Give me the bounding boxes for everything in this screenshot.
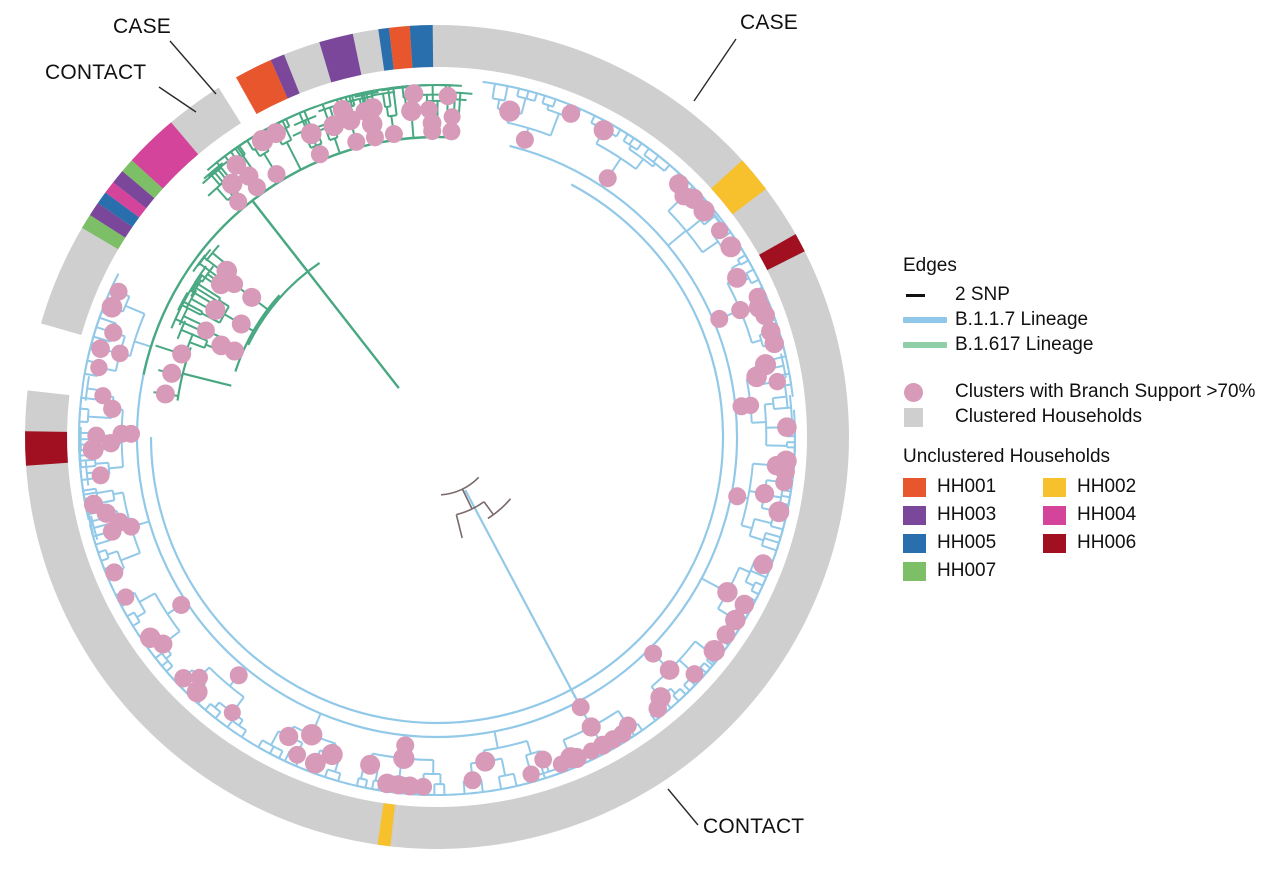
tree-branch — [771, 526, 783, 529]
tree-branch — [456, 515, 462, 538]
tree-branch — [80, 409, 88, 410]
tree-branch — [465, 490, 576, 698]
tree-branch — [134, 341, 145, 344]
cluster-support-dot — [363, 98, 383, 118]
annotation-leader-line — [159, 87, 196, 112]
tree-branch — [335, 138, 338, 147]
tree-branch — [629, 138, 633, 145]
cluster-support-dot — [268, 165, 286, 183]
cluster-support-dot — [242, 288, 261, 307]
cluster-support-dot — [769, 501, 790, 522]
figure-root: CASECONTACTCASECONTACT Edges 2 SNP B.1.1… — [0, 0, 1280, 872]
tree-branch — [741, 525, 752, 528]
cluster-support-dot — [728, 487, 746, 505]
tree-branch — [637, 143, 642, 150]
cluster-support-dot — [311, 145, 329, 163]
tree-branch — [328, 769, 341, 773]
tree-branch — [700, 663, 704, 668]
cluster-support-dot — [464, 771, 482, 789]
cluster-support-dot — [288, 746, 306, 764]
tree-branch — [270, 747, 274, 754]
tree-branch — [279, 751, 283, 758]
tree-branch — [644, 148, 649, 154]
cluster-support-dot — [727, 268, 747, 288]
cluster-support-dot — [216, 261, 237, 282]
clustered-household-swatch-icon — [903, 408, 955, 427]
cluster-support-dot — [516, 131, 534, 149]
tree-branch — [127, 612, 134, 616]
cluster-support-dot — [172, 596, 190, 614]
tree-branch — [551, 114, 559, 136]
tree-branch — [653, 163, 655, 166]
tree-branch — [484, 502, 493, 515]
tree-branch — [133, 622, 140, 626]
tree-branch — [383, 94, 385, 108]
cluster-support-dot — [769, 373, 786, 390]
cluster-support-dot — [717, 625, 736, 644]
cluster-support-dot — [117, 588, 134, 605]
household-legend-grid: HH001HH002HH003HH004HH005HH006HH007 — [903, 474, 1263, 584]
tree-branch — [403, 87, 404, 98]
tree-branch — [741, 260, 749, 264]
tree-branch — [215, 702, 219, 707]
tree-branch — [387, 107, 388, 116]
tree-branch — [527, 741, 531, 754]
tree-branch — [739, 568, 750, 573]
tree-branch — [781, 496, 789, 497]
legend-b1617-label: B.1.617 Lineage — [955, 334, 1093, 356]
tree-branch — [684, 685, 690, 691]
legend-household-hh005: HH005 — [903, 530, 1043, 556]
ring-clustered-arc — [253, 25, 849, 849]
legend-household-hh003: HH003 — [903, 502, 1043, 528]
snp-scalebar-icon — [903, 294, 955, 297]
cluster-support-dot — [775, 474, 793, 492]
tree-branch — [137, 612, 145, 617]
cluster-support-dot — [105, 563, 123, 581]
cluster-support-dot — [710, 310, 728, 328]
tree-branch — [166, 666, 172, 671]
household-label: HH002 — [1077, 476, 1136, 498]
tree-branch — [623, 134, 627, 141]
cluster-support-dot — [172, 345, 191, 364]
tree-branch — [496, 737, 498, 748]
legend-row-b117: B.1.1.7 Lineage — [903, 308, 1263, 332]
tree-branch — [505, 86, 508, 101]
household-swatch-icon — [903, 534, 926, 553]
tree-branch — [365, 780, 367, 788]
tree-branch — [95, 463, 108, 464]
tree-branch — [526, 91, 528, 99]
tree-branch — [275, 114, 297, 125]
legend-snp-label: 2 SNP — [955, 284, 1010, 306]
tree-branch — [535, 93, 537, 101]
tree-branch — [514, 774, 517, 786]
household-swatch-icon — [1043, 506, 1066, 525]
tree-branch — [286, 119, 289, 126]
tree-branch — [166, 654, 171, 658]
legend-household-hh007: HH007 — [903, 558, 1043, 584]
tree-branch — [664, 165, 669, 171]
legend-edges-title: Edges — [903, 255, 1263, 277]
household-label: HH006 — [1077, 532, 1136, 554]
tree-branch — [372, 780, 374, 789]
cluster-support-dot — [420, 101, 438, 119]
tree-branch — [704, 663, 710, 668]
tree-branch — [242, 730, 246, 737]
cluster-support-dot — [534, 751, 552, 769]
cluster-support-dot — [717, 582, 737, 602]
tree-branch — [636, 159, 643, 169]
cluster-support-dot — [562, 104, 580, 122]
cluster-support-dot — [140, 627, 161, 648]
cluster-support-dot — [230, 666, 248, 684]
legend: Edges 2 SNP B.1.1.7 Lineage B.1.617 Line… — [903, 255, 1263, 584]
tree-branch — [286, 128, 292, 140]
tree-branch — [109, 467, 123, 468]
tree-branch — [738, 255, 746, 260]
legend-b117-label: B.1.1.7 Lineage — [955, 309, 1088, 331]
legend-row-clusters: Clusters with Branch Support >70% — [903, 380, 1263, 404]
tree-branch — [345, 319, 399, 388]
tree-branch — [155, 653, 161, 658]
cluster-support-dot — [777, 417, 797, 437]
cluster-support-dot — [279, 727, 298, 746]
cluster-support-dot — [84, 495, 103, 514]
tree-branch — [113, 490, 115, 500]
tree-branch — [703, 242, 719, 253]
tree-branch — [495, 731, 496, 737]
household-swatch-icon — [903, 562, 926, 581]
tree-branch — [746, 269, 753, 273]
tree-branch — [252, 201, 307, 272]
cluster-dot-icon — [903, 383, 955, 402]
cluster-support-dot — [444, 108, 461, 125]
household-label: HH005 — [937, 532, 996, 554]
cluster-support-dots-layer — [83, 84, 797, 795]
cluster-support-dot — [377, 774, 397, 794]
cluster-support-dot — [91, 339, 110, 358]
tree-branch — [493, 84, 495, 99]
cluster-support-dot — [224, 704, 241, 721]
b1617-line-icon — [903, 342, 955, 348]
tree-branch — [673, 231, 686, 242]
cluster-support-dot — [765, 334, 784, 353]
cluster-support-dot — [594, 120, 614, 140]
household-label: HH003 — [937, 504, 996, 526]
tree-branch — [517, 89, 519, 97]
tree-branch — [766, 533, 781, 537]
tree-branch — [83, 489, 96, 491]
tree-branch — [258, 740, 262, 747]
cluster-support-dot — [229, 193, 247, 211]
cluster-support-dot — [211, 336, 231, 356]
legend-row-snp: 2 SNP — [903, 283, 1263, 307]
tree-branch — [113, 493, 123, 495]
cluster-support-dot — [401, 101, 421, 121]
cluster-support-dot — [439, 87, 457, 105]
cluster-support-dot — [197, 321, 215, 339]
cluster-support-dot — [156, 384, 175, 403]
tree-branch — [547, 105, 548, 109]
tree-branch — [162, 661, 168, 666]
legend-row-clustered-households: Clustered Households — [903, 405, 1263, 429]
tree-branch — [98, 550, 106, 553]
tree-branch — [325, 769, 328, 777]
tree-branch — [746, 582, 754, 586]
tree-branch — [752, 340, 761, 343]
legend-spacer-2 — [903, 430, 1263, 446]
cluster-support-dot — [110, 283, 128, 301]
tree-branch — [437, 85, 462, 86]
cluster-support-dot — [103, 522, 122, 541]
household-label: HH007 — [937, 560, 996, 582]
cluster-support-dot — [753, 554, 773, 574]
tree-branch — [143, 521, 149, 523]
ring-segment-hh006 — [25, 431, 68, 465]
cluster-support-dot — [755, 354, 776, 375]
household-swatch-icon — [903, 478, 926, 497]
annotation-leader-line — [170, 41, 216, 94]
legend-household-hh002: HH002 — [1043, 474, 1183, 500]
tree-branch — [318, 714, 320, 720]
cluster-support-dot — [404, 84, 423, 103]
tree-branch — [790, 395, 792, 420]
tree-branch — [498, 100, 500, 109]
tree-branch — [297, 163, 301, 170]
tree-branch — [99, 318, 116, 324]
cluster-support-dot — [522, 765, 539, 782]
cluster-support-dot — [104, 324, 122, 342]
cluster-support-dot — [301, 724, 322, 745]
tree-branch — [107, 551, 117, 555]
cluster-support-dot — [162, 364, 181, 383]
annotation-label-case-top-right: CASE — [740, 11, 798, 34]
tree-branch — [499, 774, 514, 777]
tree-branch — [271, 731, 278, 745]
cluster-support-dot — [90, 359, 107, 376]
tree-branch — [521, 98, 525, 114]
cluster-support-dot — [227, 155, 247, 175]
legend-row-b1617: B.1.617 Lineage — [903, 333, 1263, 357]
legend-spacer-1 — [903, 358, 1263, 380]
tree-branch — [97, 490, 113, 493]
tree-branch — [130, 314, 144, 356]
legend-household-hh001: HH001 — [903, 474, 1043, 500]
tree-branch — [205, 704, 210, 710]
cluster-support-dot — [582, 717, 601, 736]
tree-branch — [638, 724, 643, 731]
tree-branch — [80, 466, 95, 467]
tree-branch — [687, 220, 701, 231]
tree-branch — [190, 342, 205, 348]
tree-branch — [751, 280, 758, 284]
cluster-support-dot — [749, 288, 767, 306]
cluster-support-dot — [205, 300, 225, 320]
annotation-label-contact-bottom: CONTACT — [703, 815, 804, 838]
cluster-support-dot — [660, 660, 680, 680]
legend-unclustered-title: Unclustered Households — [903, 446, 1263, 468]
tree-branch — [766, 445, 787, 446]
tree-branch — [484, 741, 528, 751]
cluster-support-dot — [301, 123, 322, 144]
tree-branch — [239, 720, 243, 726]
tree-branch — [752, 422, 766, 423]
cluster-support-dot — [686, 665, 704, 683]
tree-branch — [591, 116, 595, 123]
tree-branch — [139, 593, 155, 602]
tree-branch — [750, 536, 764, 540]
cluster-support-dot — [648, 699, 666, 717]
cluster-support-dot — [385, 125, 403, 143]
cluster-support-dot — [393, 748, 414, 769]
tree-branch — [287, 142, 297, 162]
tree-branch — [388, 88, 391, 106]
tree-branch — [765, 405, 767, 446]
cluster-support-dot — [333, 100, 352, 119]
tree-branch — [542, 96, 544, 104]
household-label: HH004 — [1077, 504, 1136, 526]
legend-clusters-label: Clusters with Branch Support >70% — [955, 381, 1255, 403]
tree-branch — [629, 146, 631, 149]
tree-branch — [764, 538, 779, 543]
cluster-support-dot — [92, 466, 110, 484]
annotation-leader-line — [668, 789, 698, 825]
tree-branch — [499, 777, 501, 789]
cluster-support-dot — [693, 200, 714, 221]
tree-branch — [653, 156, 658, 162]
cluster-support-dot — [644, 645, 662, 663]
tree-branch — [357, 778, 359, 786]
tree-branch — [755, 519, 772, 523]
tree-branch — [502, 759, 505, 776]
tree-branch — [125, 306, 144, 314]
tree-branch — [330, 137, 338, 140]
legend-household-hh004: HH004 — [1043, 502, 1183, 528]
tree-branch — [441, 477, 479, 495]
cluster-support-dot — [232, 315, 251, 334]
annotation-label-case-top-left: CASE — [113, 15, 171, 38]
tree-branch — [751, 591, 758, 595]
cluster-support-dot — [266, 123, 286, 143]
cluster-support-dot — [305, 753, 326, 774]
tree-branch — [671, 689, 676, 694]
tree-branch — [216, 712, 221, 718]
tree-branch — [123, 297, 129, 312]
legend-household-hh006: HH006 — [1043, 530, 1183, 556]
b117-line-icon — [903, 317, 955, 323]
household-swatch-icon — [1043, 534, 1066, 553]
cluster-support-dot — [499, 101, 520, 122]
tree-branch — [84, 493, 97, 495]
household-label: HH001 — [937, 476, 996, 498]
tree-branch — [773, 397, 787, 399]
cluster-support-dot — [111, 345, 129, 363]
tree-branch — [680, 689, 686, 695]
tree-branch — [121, 553, 140, 560]
cluster-support-dot — [731, 301, 749, 319]
tree-branch — [338, 773, 340, 781]
cluster-support-dot — [553, 756, 570, 773]
cluster-support-dot — [475, 752, 495, 772]
annotation-leader-line — [694, 39, 736, 101]
tree-branch — [762, 546, 777, 551]
tree-branch — [151, 184, 723, 723]
cluster-support-dot — [669, 174, 689, 194]
cluster-support-dot — [742, 397, 759, 414]
cluster-support-dot — [704, 640, 725, 661]
tree-branch — [702, 578, 707, 581]
household-ring-layer — [25, 25, 849, 849]
tree-branch — [488, 499, 511, 519]
cluster-support-dot — [755, 484, 774, 503]
cluster-support-dot — [720, 236, 741, 257]
cluster-support-dot — [94, 387, 111, 404]
cluster-support-dot — [572, 698, 590, 716]
cluster-support-dot — [174, 669, 192, 687]
cluster-support-dot — [87, 427, 105, 445]
tree-branch — [755, 582, 762, 585]
cluster-support-dot — [599, 169, 617, 187]
tree-branch — [101, 558, 109, 561]
household-swatch-icon — [903, 506, 926, 525]
tree-branch — [765, 404, 774, 405]
tree-branch — [732, 263, 740, 268]
cluster-support-dot — [347, 133, 365, 151]
tree-branch — [553, 99, 556, 107]
tree-branch — [388, 115, 396, 116]
household-swatch-icon — [1043, 478, 1066, 497]
tree-branch — [338, 147, 340, 153]
tree-branch — [359, 778, 367, 780]
ring-segment-hh005 — [410, 25, 433, 68]
annotation-label-contact-top-left: CONTACT — [45, 61, 146, 84]
tree-branch — [616, 130, 620, 137]
cluster-support-dot — [360, 755, 380, 775]
tree-branch — [227, 721, 232, 727]
legend-clustered-households-label: Clustered Households — [955, 406, 1142, 428]
cluster-support-dot — [711, 222, 728, 239]
tree-branch — [183, 374, 232, 386]
tree-branch — [668, 242, 673, 246]
tree-branch — [673, 695, 678, 701]
